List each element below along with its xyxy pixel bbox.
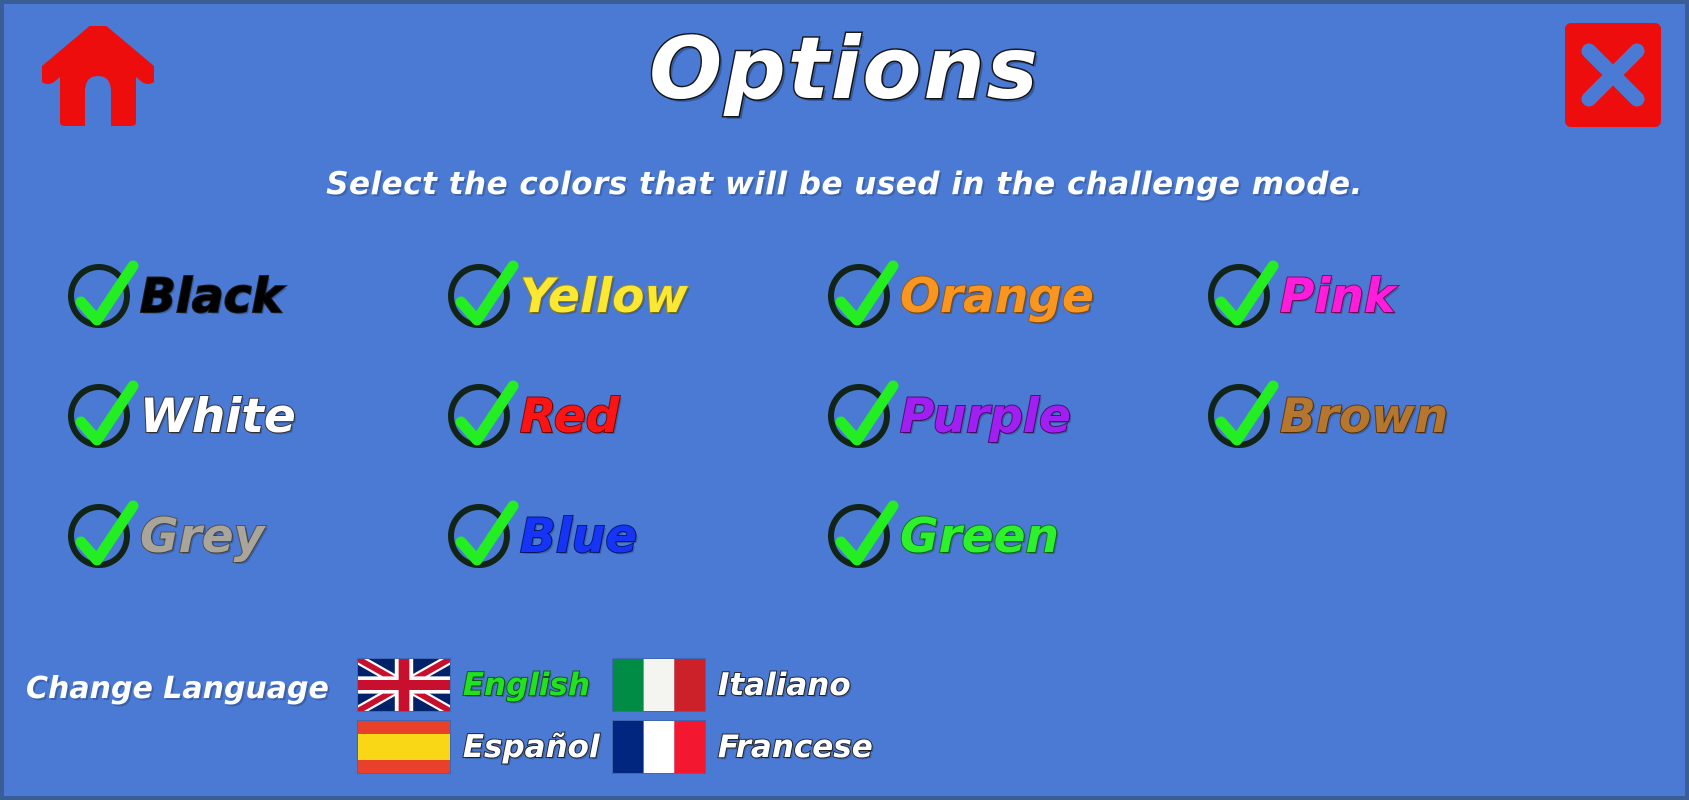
color-option-pink[interactable]: Pink bbox=[1206, 262, 1586, 330]
color-options-grid: Black Yellow Orange bbox=[66, 236, 1486, 596]
color-label: Brown bbox=[1280, 393, 1448, 440]
checkbox-yellow[interactable] bbox=[446, 262, 514, 330]
flag-italy-icon bbox=[612, 658, 706, 712]
check-icon bbox=[451, 258, 523, 334]
check-icon bbox=[831, 498, 903, 574]
checkbox-red[interactable] bbox=[446, 382, 514, 450]
color-label: Grey bbox=[140, 513, 264, 560]
check-icon bbox=[71, 378, 143, 454]
checkbox-brown[interactable] bbox=[1206, 382, 1274, 450]
language-label: Francese bbox=[718, 732, 873, 763]
flag-spain-icon bbox=[357, 720, 451, 774]
check-icon bbox=[831, 258, 903, 334]
checkbox-grey[interactable] bbox=[66, 502, 134, 570]
check-icon bbox=[1211, 378, 1283, 454]
color-label: Purple bbox=[900, 393, 1071, 440]
flag-france-icon bbox=[612, 720, 706, 774]
color-option-white[interactable]: White bbox=[66, 382, 446, 450]
color-option-orange[interactable]: Orange bbox=[826, 262, 1206, 330]
color-option-red[interactable]: Red bbox=[446, 382, 826, 450]
color-label: Blue bbox=[520, 513, 637, 560]
color-option-yellow[interactable]: Yellow bbox=[446, 262, 826, 330]
color-label: Black bbox=[140, 273, 283, 320]
color-label: White bbox=[140, 393, 296, 440]
checkbox-pink[interactable] bbox=[1206, 262, 1274, 330]
color-label: Green bbox=[900, 513, 1059, 560]
close-icon bbox=[1565, 23, 1661, 127]
checkbox-green[interactable] bbox=[826, 502, 894, 570]
check-icon bbox=[71, 498, 143, 574]
checkbox-white[interactable] bbox=[66, 382, 134, 450]
language-option-english[interactable]: English bbox=[357, 658, 612, 712]
checkbox-orange[interactable] bbox=[826, 262, 894, 330]
color-option-grey[interactable]: Grey bbox=[66, 502, 446, 570]
color-label: Yellow bbox=[520, 273, 688, 320]
language-label: English bbox=[463, 670, 590, 701]
language-options-grid: English Italiano bbox=[357, 654, 867, 784]
language-section: Change Language English bbox=[26, 654, 867, 784]
checkbox-blue[interactable] bbox=[446, 502, 514, 570]
check-icon bbox=[71, 258, 143, 334]
flag-uk-icon bbox=[357, 658, 451, 712]
change-language-label: Change Language bbox=[26, 671, 329, 784]
check-icon bbox=[451, 498, 523, 574]
color-option-purple[interactable]: Purple bbox=[826, 382, 1206, 450]
color-option-green[interactable]: Green bbox=[826, 502, 1206, 570]
checkbox-black[interactable] bbox=[66, 262, 134, 330]
check-icon bbox=[1211, 258, 1283, 334]
instruction-text: Select the colors that will be used in t… bbox=[4, 166, 1685, 202]
color-label: Red bbox=[520, 393, 619, 440]
language-option-espanol[interactable]: Español bbox=[357, 720, 612, 774]
color-option-blue[interactable]: Blue bbox=[446, 502, 826, 570]
check-icon bbox=[451, 378, 523, 454]
language-option-italiano[interactable]: Italiano bbox=[612, 658, 867, 712]
color-option-black[interactable]: Black bbox=[66, 262, 446, 330]
color-label: Orange bbox=[900, 273, 1094, 320]
page-title: Options bbox=[4, 24, 1685, 114]
checkbox-purple[interactable] bbox=[826, 382, 894, 450]
options-screen: Options Select the colors that will be u… bbox=[0, 0, 1689, 800]
language-label: Español bbox=[463, 732, 600, 763]
close-button[interactable] bbox=[1565, 23, 1661, 127]
color-option-brown[interactable]: Brown bbox=[1206, 382, 1586, 450]
color-label: Pink bbox=[1280, 273, 1395, 320]
language-option-francese[interactable]: Francese bbox=[612, 720, 867, 774]
language-label: Italiano bbox=[718, 670, 851, 701]
check-icon bbox=[831, 378, 903, 454]
